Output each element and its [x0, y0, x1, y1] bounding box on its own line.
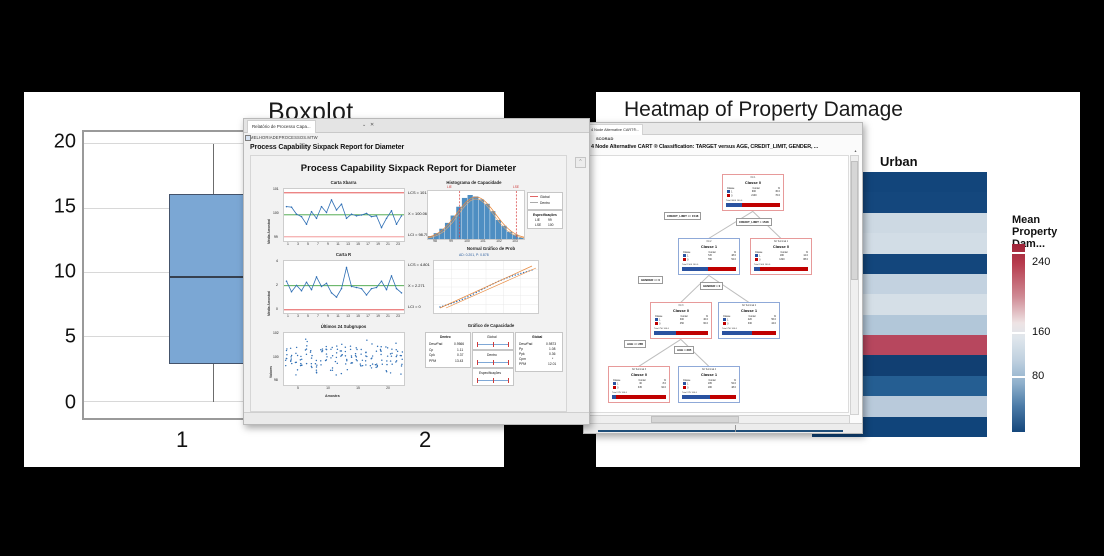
within-stat-value: 1.11	[457, 348, 463, 352]
node-bar	[654, 331, 708, 335]
xbar-y-tick: 100	[273, 211, 279, 215]
chart-series	[284, 189, 404, 241]
overall-stat-label: PPM	[519, 362, 526, 366]
r-lcl-label: LCI = 0	[408, 304, 421, 309]
within-stat-label: PPM	[429, 359, 436, 363]
axis-tick: 13	[346, 314, 350, 318]
axis-tick: 19	[376, 314, 380, 318]
axis-tick: 10	[326, 386, 330, 390]
whisker-upper	[213, 144, 214, 194]
r-y-tick: 2	[276, 283, 278, 287]
colorbar-notch	[1012, 332, 1025, 334]
axis-tick: 1	[287, 314, 289, 318]
spec-title: Especificações	[533, 213, 557, 217]
sg-y-tick: 100	[273, 355, 279, 359]
report-title: Process Capability Sixpack Report for Di…	[251, 163, 566, 174]
within-stat-value: 0.37	[457, 353, 463, 357]
node-table: ClasseContar%119552.0018048.0	[683, 379, 736, 390]
axis-tick: 19	[376, 242, 380, 246]
band-label-global: Global	[487, 335, 497, 339]
xbar-center-label: X = 100.060	[408, 211, 429, 216]
axis-tick: 11	[336, 314, 340, 318]
within-stat-label: Cpk	[429, 353, 435, 357]
overall-stat-label: DesvPad	[519, 342, 532, 346]
r-ucl-label: LCS = 4.801	[408, 262, 430, 267]
close-icon[interactable]: ✕	[370, 122, 374, 128]
cart-vertical-scrollbar[interactable]	[850, 155, 859, 415]
y-tick-15: 15	[30, 195, 76, 218]
legend-within: Dentro	[540, 201, 550, 205]
y-tick-5: 5	[30, 326, 76, 349]
minitab-tab-strip: Relatório de Processo Capa... ⌄ ✕	[244, 119, 589, 133]
x-label-2: 2	[419, 427, 431, 453]
node-total: Total 1500 100.0	[754, 264, 770, 266]
node-bar	[722, 331, 776, 335]
node-total: Total 3000 100.0	[726, 200, 742, 202]
axis-tick: 103	[512, 239, 518, 243]
node-bar	[682, 267, 736, 271]
axis-tick: 20	[386, 386, 390, 390]
axis-tick: 1	[287, 242, 289, 246]
overall-stat-label: Cpm	[519, 357, 526, 361]
node-class-label: Classe 0	[723, 180, 783, 185]
minitab-scroll-button[interactable]: ⌃	[575, 157, 586, 168]
node-total: Total 375 100.0	[612, 392, 627, 394]
within-stat-label: Cp	[429, 348, 433, 352]
probplot-title: Normal Gráfico de Prob	[431, 246, 551, 251]
xbar-y-axis-label: Média Amostral	[267, 219, 271, 244]
xbar-y-tick: 99	[274, 235, 278, 239]
scrollbar-thumb[interactable]	[651, 416, 740, 423]
node-class-label: Classe 0	[651, 308, 711, 313]
tree-node[interactable]: Nó Terminal 3Classe 0ClasseContar%1308.0…	[608, 366, 670, 403]
tree-node[interactable]: Nó Terminal 2Classe 1ClasseContar%142056…	[718, 302, 780, 339]
node-subtitle: Nó Terminal 2	[719, 305, 779, 307]
axis-tick: 17	[366, 314, 370, 318]
split-rule: GENDER <= 0	[638, 276, 663, 284]
axis-tick: 5	[297, 386, 299, 390]
minitab-tab[interactable]: Relatório de Processo Capa...	[247, 120, 316, 133]
x-label-1: 1	[176, 427, 188, 453]
split-rule: CREDIT_LIMIT > 1548	[736, 218, 772, 226]
node-subtitle: Nó 2	[679, 241, 739, 243]
node-subtitle: Nó Terminal 4	[679, 369, 739, 371]
cart-tab-strip: 4 Node Alternative CART®...	[584, 123, 862, 135]
subgroup-scatter	[283, 332, 405, 386]
overall-stat-label: Ppk	[519, 352, 525, 356]
cart-tree-canvas: Nó 1Classe 0ClasseContar%190030.00210070…	[589, 155, 849, 413]
split-rule: CREDIT_LIMIT <= 1548	[664, 212, 701, 220]
node-subtitle: Nó Terminal 3	[609, 369, 669, 371]
r-center-label: X = 2.271	[408, 283, 425, 288]
colorbar-tick-160: 160	[1032, 326, 1050, 338]
r-chart	[283, 260, 405, 314]
overall-stat-value: *	[552, 357, 553, 361]
band-label-spec: Especificações	[479, 371, 501, 375]
axis-tick: 15	[356, 314, 360, 318]
tree-node[interactable]: Nó 1Classe 0ClasseContar%190030.00210070…	[722, 174, 784, 211]
node-table: ClasseContar%118012.00132088.0	[755, 251, 808, 262]
axis-tick: 3	[297, 242, 299, 246]
node-total: Total 750 100.0	[654, 328, 669, 330]
spec-lsl-label: LIE	[535, 218, 540, 222]
axis-tick: 7	[317, 242, 319, 246]
r-x-axis: 1357911131517192123	[283, 314, 403, 320]
histogram-x-axis: 9899100101102103	[427, 239, 523, 245]
tree-node[interactable]: Nó Terminal 1Classe 0ClasseContar%118012…	[750, 238, 812, 275]
capability-title: Gráfico de Capacidade	[431, 323, 551, 328]
split-rule: AGE > 285	[674, 346, 694, 354]
node-bar	[754, 267, 808, 271]
subgroup-title: Últimos 24 Subgrupos	[271, 324, 416, 329]
minitab-window[interactable]: Relatório de Processo Capa... ⌄ ✕ MELHOR…	[243, 118, 590, 425]
node-total: Total 750 100.0	[722, 328, 737, 330]
node-table: ClasseContar%190030.00210070.0	[727, 187, 780, 198]
capability-histogram	[427, 190, 525, 240]
spec-usl-value: 100	[548, 223, 554, 227]
cart-heading: 4 Node Alternative CART ® Classification…	[591, 144, 818, 150]
split-rule: GENDER > 0	[700, 282, 723, 290]
y-tick-20: 20	[30, 130, 76, 153]
worksheet-icon	[245, 135, 251, 141]
tree-node[interactable]: Nó Terminal 4Classe 1ClasseContar%119552…	[678, 366, 740, 403]
histogram-legend: Global Dentro	[527, 192, 563, 210]
minitab-status-bar	[244, 412, 589, 424]
overall-stat-value: 0.36	[549, 352, 555, 356]
chart-series	[428, 191, 524, 239]
scrollbar-thumb[interactable]	[851, 161, 858, 280]
axis-tick: 3	[297, 314, 299, 318]
heatmap-legend: Mean Property Dam... 240 160 80	[1012, 214, 1080, 250]
node-total: Total 375 100.0	[682, 392, 697, 394]
axis-tick: 13	[346, 242, 350, 246]
tree-node[interactable]: Nó 3Classe 0ClasseContar%130040.0045060.…	[650, 302, 712, 339]
axis-tick: 21	[386, 314, 390, 318]
axis-tick: 101	[480, 239, 486, 243]
node-table: ClasseContar%172048.0078052.0	[683, 251, 736, 262]
axis-tick: 7	[317, 314, 319, 318]
axis-tick: 15	[356, 386, 360, 390]
file-name-text: MELHORIADEPROCESSOS.MTW	[250, 135, 318, 140]
node-subtitle: Nó Terminal 1	[751, 241, 811, 243]
within-stat-value: 13.43	[455, 359, 463, 363]
overall-stat-value: 12.01	[548, 362, 556, 366]
axis-tick: 9	[327, 242, 329, 246]
node-table: ClasseContar%1308.0034592.0	[613, 379, 666, 390]
xbar-chart-title: Carta Xbarra	[271, 180, 416, 185]
axis-tick: 98	[433, 239, 437, 243]
chart-series	[284, 261, 404, 313]
minitab-report-heading: Process Capability Sixpack Report for Di…	[250, 144, 404, 151]
axis-tick: 23	[396, 242, 400, 246]
capability-band-global: Global	[472, 332, 514, 350]
capability-band-spec: Especificações	[472, 368, 514, 386]
axis-tick: 5	[307, 242, 309, 246]
r-y-tick: 0	[276, 307, 278, 311]
within-title: Dentro	[440, 335, 451, 339]
spec-lsl-value: 99	[548, 218, 552, 222]
chart-series	[434, 261, 538, 313]
node-class-label: Classe 1	[679, 372, 739, 377]
montage-canvas: Boxplot 20 15 10 5 0 1 2 Heatmap of Prop…	[0, 0, 1104, 556]
y-tick-0: 0	[30, 391, 76, 414]
capability-band-within: Dentro	[472, 350, 514, 368]
node-bar	[612, 395, 666, 399]
y-tick-10: 10	[30, 261, 76, 284]
axis-tick: 17	[366, 242, 370, 246]
boxplot-y-axis: 20 15 10 5 0	[30, 130, 76, 420]
tree-node[interactable]: Nó 2Classe 1ClasseContar%172048.0078052.…	[678, 238, 740, 275]
split-rule: AGE <= 285	[624, 340, 646, 348]
axis-tick: 5	[307, 314, 309, 318]
colorbar-tick-80: 80	[1032, 370, 1044, 382]
color-bar	[1012, 244, 1025, 432]
colorbar-notch	[1012, 376, 1025, 378]
r-y-tick: 4	[276, 259, 278, 263]
overall-stats-box: Global DesvPad 0.9873 Pp 1.08 Ppk 0.36 C…	[515, 332, 563, 372]
xbar-x-axis: 1357911131517192123	[283, 242, 403, 248]
subgroup-y-axis-label: Valores	[269, 366, 273, 378]
spec-box: Especificações LIE 99 LSE 100	[527, 210, 563, 229]
cart-subtitle: SCORAD	[596, 136, 613, 141]
overall-title: Global	[532, 335, 542, 339]
band-label-within: Dentro	[487, 353, 497, 357]
histogram-lsl-marker: LIE	[447, 185, 452, 189]
within-stat-label: DesvPad	[429, 342, 442, 346]
overall-stat-value: 1.08	[549, 347, 555, 351]
overall-stat-value: 0.9873	[546, 342, 556, 346]
axis-tick: 15	[356, 242, 360, 246]
legend-global: Global	[540, 195, 550, 199]
sg-x-axis-label: Amostra	[325, 394, 340, 398]
minitab-report-canvas: Process Capability Sixpack Report for Di…	[250, 155, 567, 412]
legend-title-line1: Mean	[1012, 214, 1080, 226]
node-total: Total 1500 100.0	[682, 264, 698, 266]
within-stat-value: 0.9566	[454, 342, 464, 346]
cart-tab[interactable]: 4 Node Alternative CART®...	[587, 124, 643, 135]
chevron-down-icon[interactable]: ⌄	[362, 122, 366, 128]
axis-tick: 99	[449, 239, 453, 243]
cart-window[interactable]: 4 Node Alternative CART®... SCORAD 4 Nod…	[583, 122, 863, 434]
node-class-label: Classe 0	[609, 372, 669, 377]
node-table: ClasseContar%130040.0045060.0	[655, 315, 708, 326]
whisker-lower	[213, 364, 214, 402]
chevron-up-icon[interactable]: ▴	[852, 148, 859, 153]
sg-x-axis: 5101520	[283, 386, 403, 392]
node-bar	[726, 203, 780, 207]
heatmap-column-header: Urban	[880, 154, 918, 169]
chart-series	[284, 333, 404, 385]
heatmap-axis-line	[598, 430, 843, 432]
r-y-axis-label: Média Amostral	[267, 291, 271, 316]
node-class-label: Classe 1	[719, 308, 779, 313]
sg-y-tick: 102	[273, 331, 279, 335]
minitab-file-name: MELHORIADEPROCESSOS.MTW	[250, 135, 318, 140]
xbar-chart	[283, 188, 405, 242]
node-class-label: Classe 0	[751, 244, 811, 249]
axis-tick: 102	[496, 239, 502, 243]
node-class-label: Classe 1	[679, 244, 739, 249]
node-table: ClasseContar%142056.0033044.0	[723, 315, 776, 326]
xbar-y-tick: 101	[273, 187, 279, 191]
probplot-subtitle: AD: 0.201, P: 0.878	[459, 253, 489, 257]
histogram-usl-marker: LSE	[513, 185, 519, 189]
axis-tick: 23	[396, 314, 400, 318]
axis-tick: 11	[336, 242, 340, 246]
within-stats-box: Dentro DesvPad 0.9566 Cp 1.11 Cpk 0.37 P…	[425, 332, 471, 368]
node-subtitle: Nó 3	[651, 305, 711, 307]
axis-tick: 21	[386, 242, 390, 246]
axis-tick: 100	[464, 239, 470, 243]
overall-stat-label: Pp	[519, 347, 523, 351]
spec-usl-label: LSE	[535, 223, 541, 227]
axis-tick: 9	[327, 314, 329, 318]
probability-plot	[433, 260, 539, 314]
heatmap-title: Heatmap of Property Damage	[624, 98, 903, 122]
node-subtitle: Nó 1	[723, 177, 783, 179]
colorbar-notch	[1012, 252, 1025, 254]
sg-y-tick: 98	[274, 378, 278, 382]
heatmap-axis-tick	[735, 425, 736, 432]
colorbar-tick-240: 240	[1032, 256, 1050, 268]
r-chart-title: Carta R	[271, 252, 416, 257]
node-bar	[682, 395, 736, 399]
